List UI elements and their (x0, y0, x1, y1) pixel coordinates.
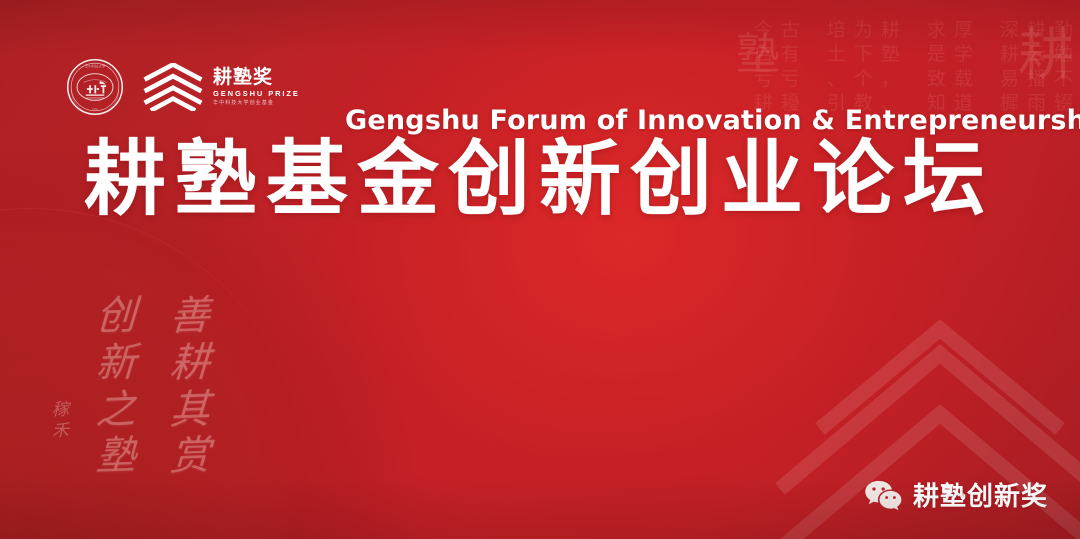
calligraphy-column-right: 善 耕 其 赏 (170, 296, 210, 477)
wechat-account-name: 耕塾创新奖 (913, 476, 1048, 513)
gengshu-name-en: GENGSHU PRIZE (213, 90, 300, 98)
background-arc-glow (0, 208, 310, 539)
calligraphy-char: 创 (95, 295, 137, 337)
gengshu-name-cn: 耕塾奖 (213, 68, 273, 87)
signature-char: 禾 (52, 423, 69, 440)
gengshu-wordmark: 耕塾奖 GENGSHU PRIZE 华中科技大学创业基金 (213, 68, 300, 106)
calligraphy-signature: 稼 禾 (52, 402, 69, 440)
gengshu-chevron-mark-icon (142, 63, 204, 111)
calligraphy-block: 善 耕 其 赏 创 新 之 塾 (96, 296, 210, 477)
gengshu-name-sub: 华中科技大学创业基金 (213, 101, 274, 106)
calligraphy-char: 之 (95, 389, 137, 431)
event-banner: 今 古 启 有 亏 亏 耕 耰 培 为 耕 土 下 塾 、 个 ， 引 教 、 … (0, 0, 1080, 539)
calligraphy-char: 其 (169, 389, 211, 431)
calligraphy-column-left: 创 新 之 塾 (96, 296, 136, 477)
signature-char: 稼 (52, 402, 69, 419)
svg-text:1952: 1952 (92, 108, 99, 111)
calligraphy-char: 塾 (95, 436, 137, 478)
calligraphy-char: 善 (169, 295, 211, 337)
title-chinese: 耕塾基金创新创业论坛 (84, 136, 994, 225)
watermark-big-char: 塾 (736, 18, 780, 82)
svg-text:华中科技大学: 华中科技大学 (85, 63, 106, 68)
calligraphy-char: 赏 (169, 436, 211, 478)
wechat-account-badge[interactable]: 耕塾创新奖 (864, 476, 1048, 513)
hust-seal-icon: 华中科技大学 1952 (66, 58, 124, 116)
calligraphy-char: 耕 (169, 342, 211, 384)
calligraphy-char: 新 (95, 342, 137, 384)
gengshu-logo-lockup: 耕塾奖 GENGSHU PRIZE 华中科技大学创业基金 (142, 63, 300, 111)
watermark-column: 深 耕 勤 耕 云 勉 易 播 不 樨 雨 辍 (1000, 18, 1074, 330)
watermark-big-char: 耕 (1018, 10, 1074, 91)
logo-row: 华中科技大学 1952 耕塾奖 GENGSHU PRIZE 华中科技大学创业基金 (66, 58, 300, 116)
wechat-icon (864, 479, 902, 511)
